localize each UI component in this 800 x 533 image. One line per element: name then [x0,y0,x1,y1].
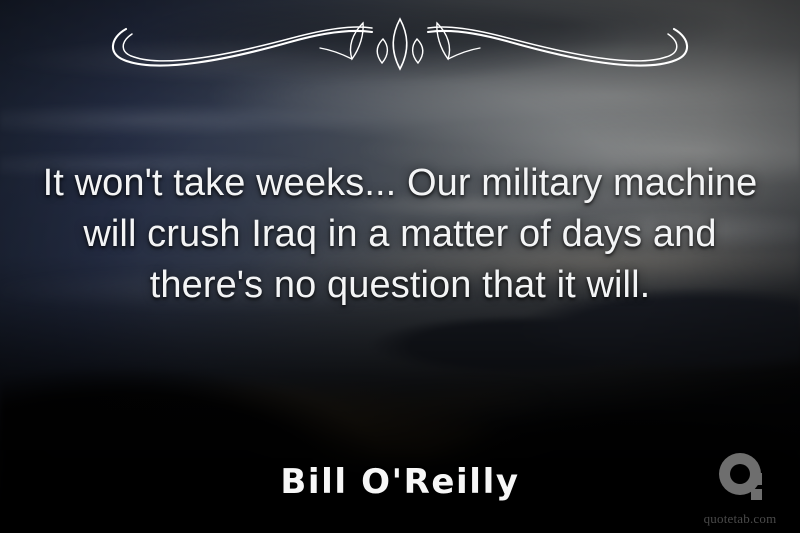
ornamental-divider-flourish [80,12,720,82]
watermark-site-label: quotetab.com [688,511,792,527]
quote-text: It won't take weeks... Our military mach… [42,158,758,311]
quote-author: Bill O'Reilly [0,462,800,502]
watermark: quotetab.com [688,451,792,527]
quotetab-logo-icon [709,451,771,509]
quote-card: It won't take weeks... Our military mach… [0,0,800,533]
